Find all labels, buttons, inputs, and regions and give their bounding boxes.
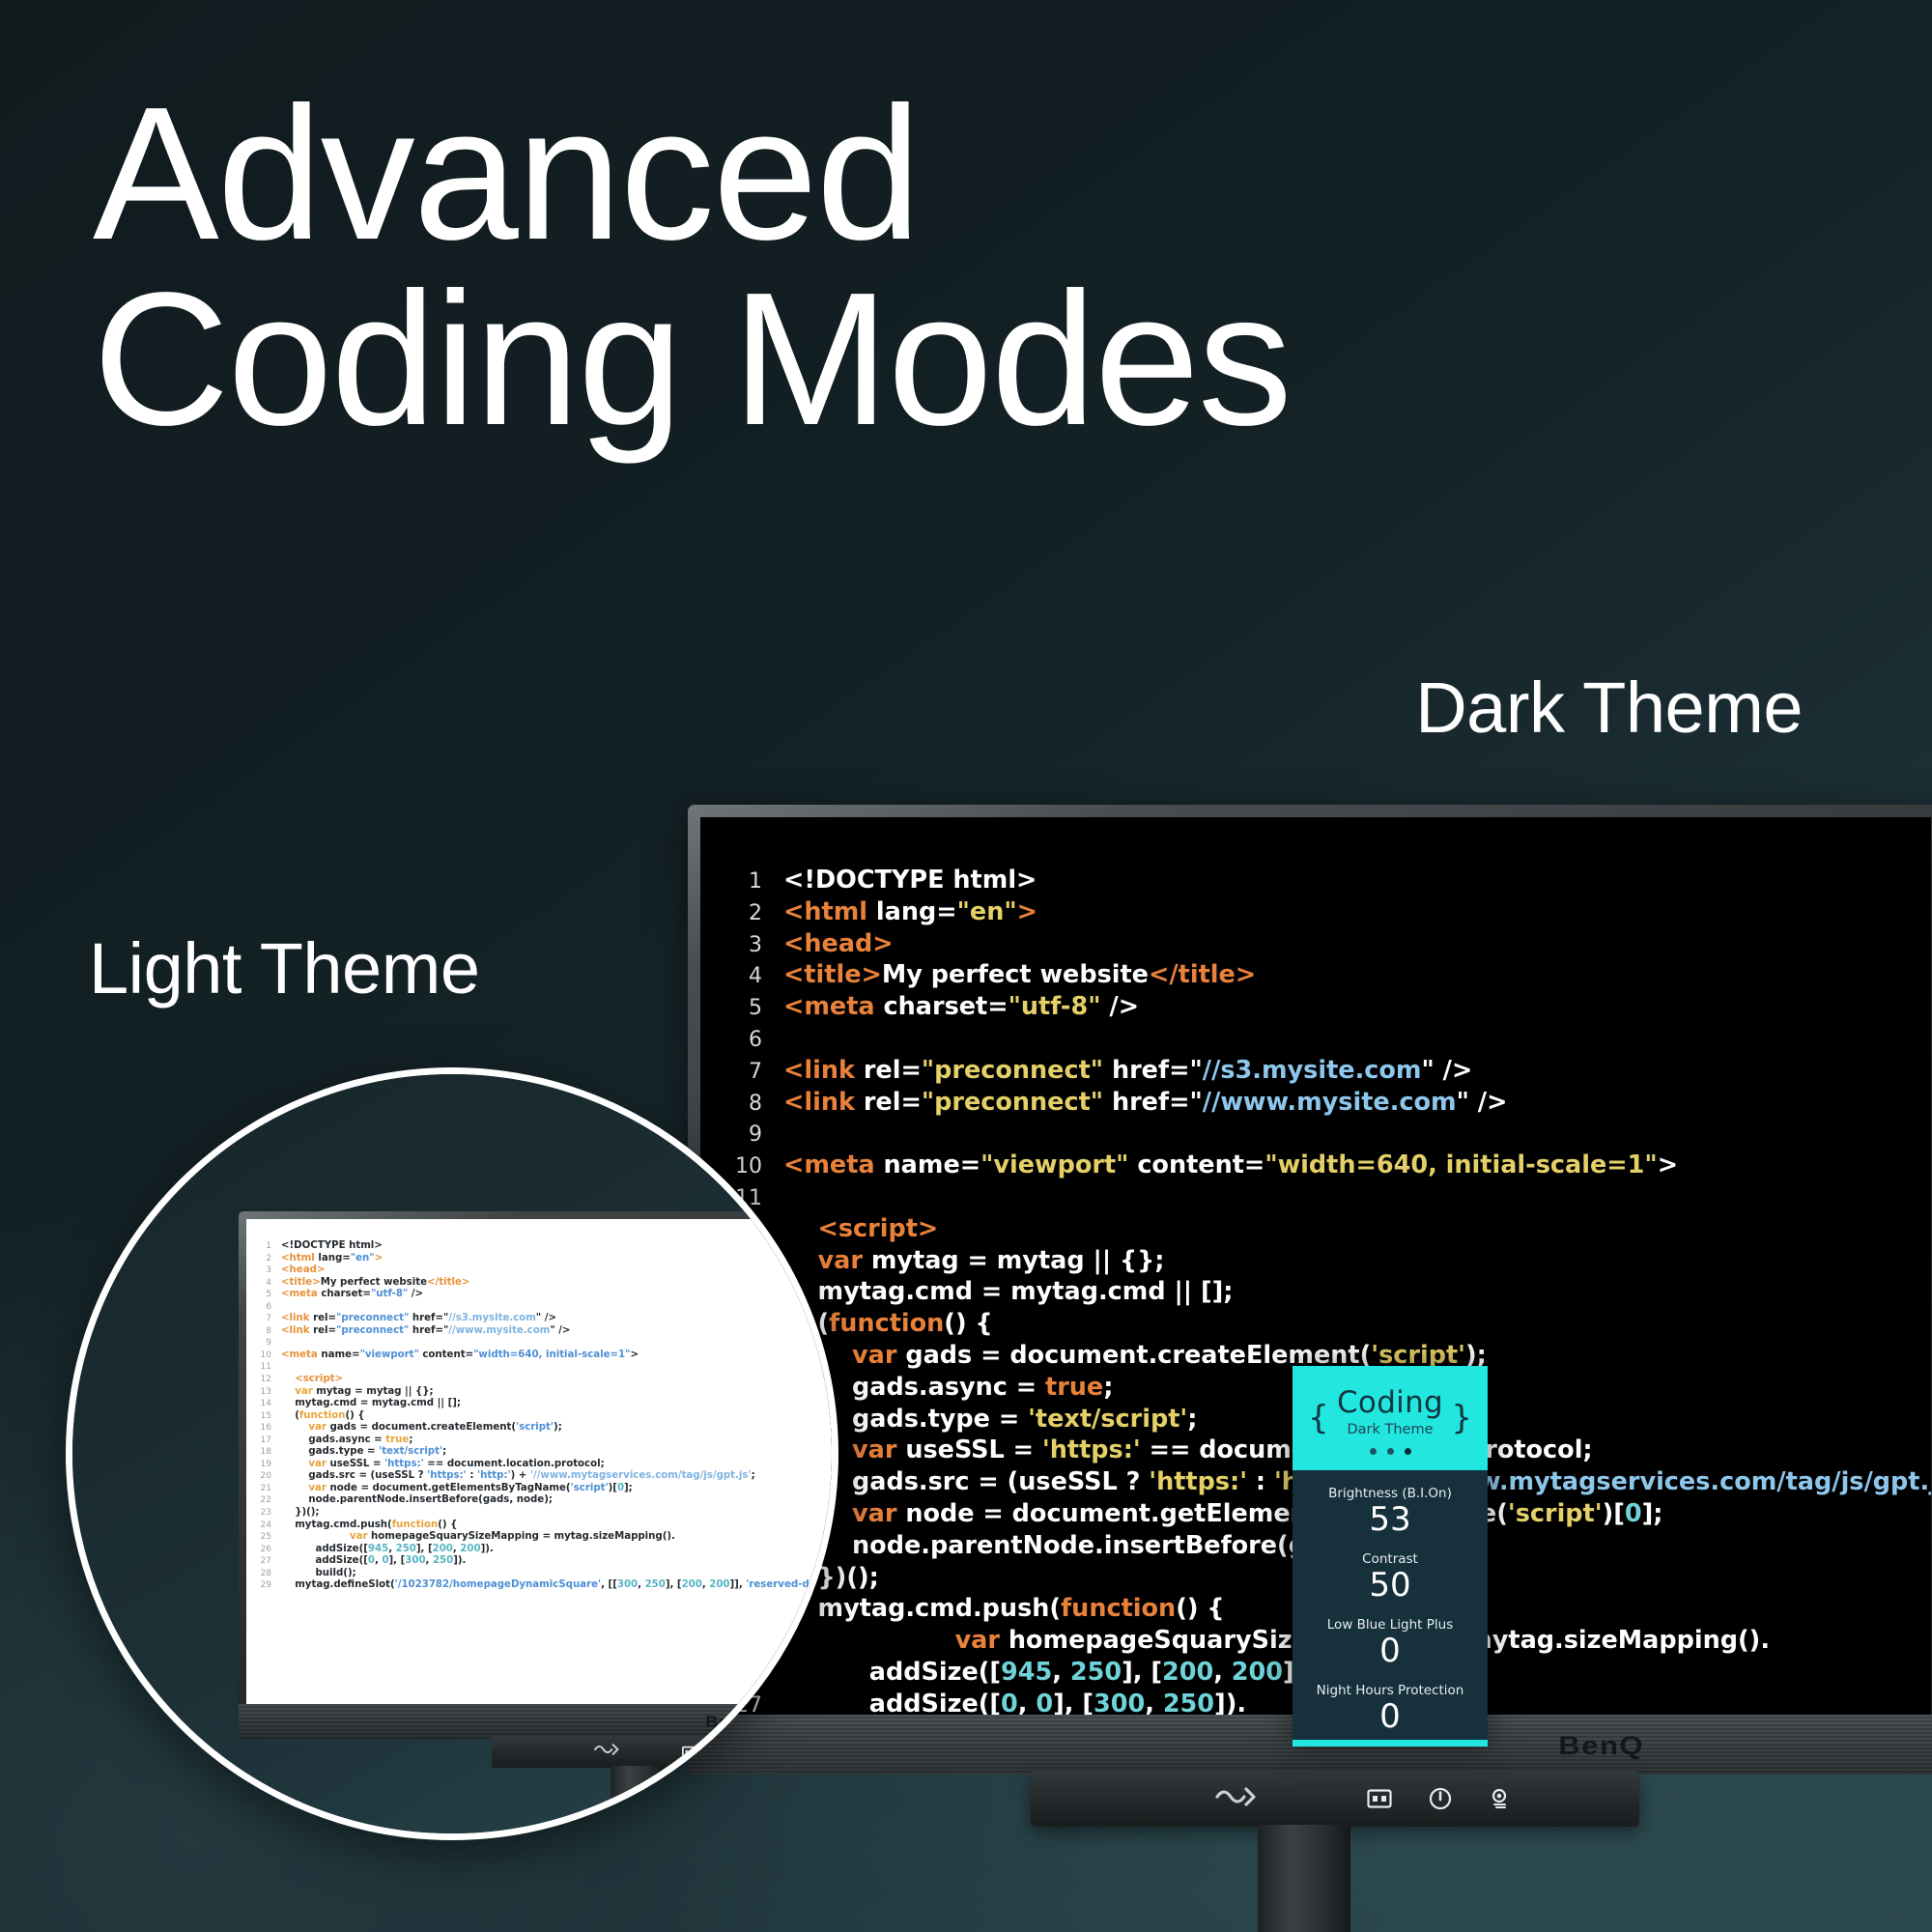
code-token: ]; bbox=[624, 1483, 633, 1493]
code-token: charset= bbox=[884, 992, 1009, 1021]
code-token: //s3.mysite.com bbox=[1203, 1056, 1422, 1085]
code-indent bbox=[281, 1531, 350, 1542]
line-number: 8 bbox=[256, 1325, 271, 1338]
osd-setting-row[interactable]: Brightness (B.I.On)53 bbox=[1293, 1486, 1488, 1539]
line-number: 6 bbox=[724, 1026, 762, 1056]
code-token: addSize([ bbox=[869, 1690, 1001, 1715]
code-token: content= bbox=[1128, 1151, 1264, 1179]
code-token: mytag.cmd.push( bbox=[295, 1520, 392, 1530]
code-token: homepageSquarySizeMapping = mytag.sizeMa… bbox=[371, 1531, 675, 1542]
code-token: <head> bbox=[783, 929, 894, 958]
code-line: 10<meta name="viewport" content="width=6… bbox=[724, 1151, 1931, 1182]
code-line: 5<meta charset="utf-8" /> bbox=[256, 1289, 838, 1301]
code-token: ], [ bbox=[1122, 1658, 1162, 1687]
code-token: 0 bbox=[1001, 1690, 1018, 1715]
code-line: 2<html lang="en"> bbox=[724, 897, 1931, 929]
code-token: gads.type = bbox=[308, 1446, 379, 1457]
code-token: <meta bbox=[783, 992, 884, 1021]
code-line: 26 addSize([945, 250], [200, 200]). bbox=[256, 1544, 838, 1556]
code-token: 'http:' bbox=[477, 1470, 511, 1481]
code-token: 'https:' bbox=[1042, 1435, 1141, 1464]
code-token: 'text/script' bbox=[1028, 1405, 1187, 1434]
code-token: <meta bbox=[281, 1289, 321, 1299]
line-number: 27 bbox=[256, 1555, 271, 1568]
code-token: href= bbox=[1103, 1056, 1189, 1085]
swoosh-icon bbox=[1214, 1784, 1261, 1814]
code-indent bbox=[281, 1483, 308, 1493]
code-indent bbox=[281, 1579, 295, 1590]
code-token: ], [ bbox=[666, 1579, 682, 1590]
code-line: 29 mytag.defineSlot('/1023782/homepageDy… bbox=[256, 1579, 838, 1592]
code-line: 9 bbox=[724, 1119, 1931, 1151]
code-token: "viewport" bbox=[980, 1151, 1128, 1179]
line-number: 1 bbox=[724, 867, 762, 897]
code-token: 0 bbox=[1036, 1690, 1053, 1715]
code-token: rel= bbox=[864, 1088, 922, 1117]
code-token: function bbox=[1061, 1594, 1176, 1623]
code-token: href= bbox=[1103, 1088, 1189, 1117]
code-token: () { bbox=[345, 1410, 364, 1421]
osd-setting-value: 0 bbox=[1293, 1633, 1488, 1670]
code-indent bbox=[281, 1555, 315, 1566]
code-line: 1<!DOCTYPE html> bbox=[256, 1240, 838, 1253]
code-token: name= bbox=[321, 1350, 359, 1360]
code-token: == document.location.protocol; bbox=[424, 1459, 605, 1469]
code-token: charset= bbox=[321, 1289, 371, 1299]
code-line: 6 bbox=[724, 1024, 1931, 1056]
line-number: 1 bbox=[256, 1240, 271, 1253]
code-token: <link bbox=[281, 1325, 313, 1336]
line-number: 2 bbox=[724, 899, 762, 929]
code-line: 20 gads.src = (useSSL ? 'https:' : 'http… bbox=[256, 1470, 838, 1483]
line-number: 3 bbox=[256, 1264, 271, 1277]
code-indent bbox=[281, 1507, 295, 1518]
code-token: <script> bbox=[295, 1374, 343, 1384]
line-number: 12 bbox=[256, 1374, 271, 1386]
screen-icon[interactable] bbox=[1367, 1788, 1392, 1809]
code-indent bbox=[281, 1410, 295, 1421]
benq-logo: BenQ bbox=[1558, 1730, 1644, 1761]
code-indent bbox=[281, 1422, 308, 1433]
code-token: var bbox=[852, 1341, 905, 1370]
code-line: 24 mytag.cmd.push(function() { bbox=[256, 1520, 838, 1532]
code-token: 200 bbox=[682, 1579, 702, 1590]
code-line: 2<html lang="en"> bbox=[256, 1253, 838, 1265]
code-token: > bbox=[1658, 1151, 1678, 1179]
code-token: mytag.defineSlot( bbox=[295, 1579, 394, 1590]
osd-accent-bar bbox=[1293, 1740, 1488, 1747]
code-token: mytag.cmd = mytag.cmd || []; bbox=[818, 1277, 1234, 1306]
code-token: addSize([ bbox=[315, 1544, 367, 1554]
code-indent bbox=[281, 1544, 315, 1554]
poster-canvas: Advanced Coding Modes Dark Theme Light T… bbox=[0, 0, 1932, 1932]
osd-setting-label: Low Blue Light Plus bbox=[1293, 1617, 1488, 1633]
code-token: " bbox=[1189, 1056, 1202, 1085]
code-token: 300 bbox=[405, 1555, 425, 1566]
code-token: var bbox=[295, 1386, 316, 1397]
code-line: 19 var useSSL = 'https:' == document.loc… bbox=[256, 1459, 838, 1471]
code-token: "preconnect" bbox=[336, 1325, 409, 1336]
code-token: 0 bbox=[382, 1555, 388, 1566]
code-token: ; bbox=[752, 1470, 755, 1481]
code-token: function bbox=[299, 1410, 346, 1421]
magnifier-background: 1<!DOCTYPE html>2<html lang="en">3<head>… bbox=[72, 1074, 832, 1833]
code-token: () { bbox=[438, 1520, 457, 1530]
code-line: 12 <script> bbox=[256, 1374, 838, 1386]
code-token: 'script' bbox=[571, 1483, 609, 1493]
code-token: '//www.mytagservices.com/tag/js/gpt.js' bbox=[530, 1470, 752, 1481]
code-token: ]). bbox=[1214, 1690, 1246, 1715]
light-theme-label: Light Theme bbox=[89, 927, 480, 1009]
code-token: mytag = mytag || {}; bbox=[871, 1246, 1165, 1275]
osd-header: { } Coding Dark Theme bbox=[1293, 1366, 1488, 1470]
code-token: My perfect website bbox=[321, 1277, 427, 1288]
code-token: <html bbox=[281, 1253, 318, 1264]
code-line: 14 mytag.cmd = mytag.cmd || []; bbox=[724, 1277, 1931, 1309]
code-token: , [[ bbox=[601, 1579, 617, 1590]
osd-setting-row[interactable]: Low Blue Light Plus0 bbox=[1293, 1617, 1488, 1670]
code-token: useSSL = bbox=[905, 1435, 1042, 1464]
power-icon[interactable] bbox=[1429, 1787, 1452, 1810]
code-line: 16 var gads = document.createElement('sc… bbox=[256, 1422, 838, 1435]
osd-setting-row[interactable]: Night Hours Protection0 bbox=[1293, 1683, 1488, 1736]
osd-panel[interactable]: { } Coding Dark Theme Brightness (B.I.On… bbox=[1293, 1366, 1488, 1747]
monitor-light-screen: 1<!DOCTYPE html>2<html lang="en">3<head>… bbox=[246, 1219, 838, 1704]
code-token: true bbox=[1045, 1373, 1103, 1402]
code-token: " /> bbox=[1457, 1088, 1508, 1117]
osd-setting-value: 53 bbox=[1293, 1501, 1488, 1539]
code-token: "utf-8" bbox=[371, 1289, 408, 1299]
line-number: 26 bbox=[256, 1544, 271, 1556]
code-token: "utf-8" bbox=[1009, 992, 1101, 1021]
code-token: 300 bbox=[1094, 1690, 1145, 1715]
code-token: )[ bbox=[1603, 1499, 1625, 1528]
code-line: 8<link rel="preconnect" href="//www.mysi… bbox=[724, 1088, 1931, 1120]
code-token: , bbox=[1052, 1658, 1070, 1687]
magnifier-light-theme: 1<!DOCTYPE html>2<html lang="en">3<head>… bbox=[66, 1067, 838, 1840]
code-token: "en" bbox=[351, 1253, 375, 1264]
line-number: 4 bbox=[724, 962, 762, 992]
monitor-stand bbox=[1258, 1825, 1350, 1932]
line-number: 5 bbox=[256, 1289, 271, 1301]
line-number: 24 bbox=[256, 1520, 271, 1532]
osd-setting-value: 50 bbox=[1293, 1567, 1488, 1605]
code-token: ; bbox=[1187, 1405, 1197, 1434]
code-token: "preconnect" bbox=[922, 1056, 1103, 1085]
code-line: 25 var homepageSquarySizeMapping = mytag… bbox=[256, 1531, 838, 1544]
code-token: true bbox=[385, 1435, 409, 1445]
code-token: " bbox=[1189, 1088, 1202, 1117]
monitor-control-bar[interactable] bbox=[1031, 1771, 1639, 1827]
code-line: 8<link rel="preconnect" href="//www.mysi… bbox=[256, 1325, 838, 1338]
code-token: )[ bbox=[609, 1483, 617, 1493]
code-line: 7<link rel="preconnect" href="//s3.mysit… bbox=[256, 1313, 838, 1325]
line-number: 2 bbox=[256, 1253, 271, 1265]
code-token: //s3.mysite.com bbox=[448, 1313, 536, 1323]
osd-setting-label: Night Hours Protection bbox=[1293, 1683, 1488, 1698]
osd-dot-1[interactable] bbox=[1370, 1448, 1377, 1455]
code-token: "width=640, initial-scale=1" bbox=[1264, 1151, 1657, 1179]
code-token: addSize([ bbox=[315, 1555, 367, 1566]
code-token: () { bbox=[944, 1309, 992, 1338]
line-number: 25 bbox=[256, 1531, 271, 1544]
code-indent bbox=[281, 1374, 295, 1384]
code-token: var bbox=[955, 1626, 1009, 1655]
code-token: 0 bbox=[368, 1555, 375, 1566]
code-indent bbox=[281, 1520, 295, 1530]
code-token: var bbox=[852, 1435, 905, 1464]
code-token: , bbox=[638, 1579, 644, 1590]
code-token: name= bbox=[884, 1151, 981, 1179]
code-token: var bbox=[308, 1483, 329, 1493]
code-token: var bbox=[308, 1459, 329, 1469]
osd-setting-row[interactable]: Contrast50 bbox=[1293, 1551, 1488, 1605]
code-line: 5<meta charset="utf-8" /> bbox=[724, 992, 1931, 1024]
code-token: <!DOCTYPE html> bbox=[281, 1240, 383, 1251]
code-token: ]; bbox=[1642, 1499, 1663, 1528]
line-number: 13 bbox=[256, 1386, 271, 1399]
code-token: 'https:' bbox=[1149, 1467, 1247, 1496]
line-number: 14 bbox=[256, 1398, 271, 1410]
code-line: 14 mytag.cmd = mytag.cmd || []; bbox=[256, 1398, 838, 1410]
code-token: , bbox=[1018, 1690, 1037, 1715]
code-line: 4<title>My perfect website</title> bbox=[724, 960, 1931, 992]
code-token: My perfect website bbox=[882, 960, 1149, 989]
osd-setting-label: Brightness (B.I.On) bbox=[1293, 1486, 1488, 1501]
code-token: , bbox=[1145, 1690, 1163, 1715]
code-token: 200 bbox=[460, 1544, 480, 1554]
code-token: <script> bbox=[818, 1214, 939, 1243]
line-number: 4 bbox=[256, 1277, 271, 1290]
code-token: 200 bbox=[433, 1544, 453, 1554]
line-number: 16 bbox=[256, 1422, 271, 1435]
osd-page-dots[interactable] bbox=[1293, 1448, 1488, 1455]
code-token: href= bbox=[409, 1313, 443, 1323]
code-token: ], [ bbox=[1053, 1690, 1094, 1715]
code-token: mytag = mytag || {}; bbox=[316, 1386, 433, 1397]
code-token: ], [ bbox=[389, 1555, 406, 1566]
code-indent bbox=[281, 1446, 308, 1457]
line-number: 18 bbox=[256, 1446, 271, 1459]
code-token: var bbox=[350, 1531, 371, 1542]
page-title: Advanced Coding Modes bbox=[93, 81, 1291, 452]
dark-theme-label: Dark Theme bbox=[1415, 667, 1803, 749]
code-line: 3<head> bbox=[724, 929, 1931, 961]
osd-setting-label: Contrast bbox=[1293, 1551, 1488, 1567]
code-token: node = document.getElementsByTagName( bbox=[329, 1483, 570, 1493]
code-token: /> bbox=[1101, 992, 1140, 1021]
eye-care-icon[interactable] bbox=[1489, 1787, 1512, 1810]
line-number: 29 bbox=[256, 1579, 271, 1592]
code-token: function bbox=[829, 1309, 944, 1338]
code-token: 250 bbox=[396, 1544, 416, 1554]
swoosh-icon-small bbox=[593, 1742, 622, 1762]
code-token: " /> bbox=[1421, 1056, 1472, 1085]
code-line: 4<title>My perfect website</title> bbox=[256, 1277, 838, 1290]
code-token: ]). bbox=[481, 1544, 494, 1554]
code-token: 200 bbox=[1232, 1658, 1283, 1687]
code-token: ; bbox=[409, 1435, 412, 1445]
line-number: 9 bbox=[256, 1337, 271, 1350]
code-line: 28 build(); bbox=[256, 1568, 838, 1580]
line-number: 3 bbox=[724, 931, 762, 961]
code-token: function bbox=[392, 1520, 439, 1530]
code-token: ; bbox=[1103, 1373, 1113, 1402]
code-indent bbox=[281, 1398, 295, 1408]
code-token: "preconnect" bbox=[922, 1088, 1103, 1117]
monitor-light-chin: BenQ bbox=[239, 1704, 838, 1739]
code-token: gads.async = bbox=[308, 1435, 385, 1445]
line-number: 15 bbox=[256, 1410, 271, 1423]
code-indent bbox=[281, 1435, 308, 1445]
code-token: mytag.cmd.push( bbox=[818, 1594, 1062, 1623]
benq-logo-small: BenQ bbox=[705, 1713, 755, 1730]
monitor-light-control-bar[interactable] bbox=[492, 1736, 830, 1768]
code-token: rel= bbox=[864, 1056, 922, 1085]
code-token: <head> bbox=[281, 1264, 325, 1275]
code-token: 250 bbox=[1163, 1690, 1214, 1715]
code-token: build(); bbox=[315, 1568, 355, 1578]
code-token: " /> bbox=[550, 1325, 570, 1336]
code-line: 13 var mytag = mytag || {}; bbox=[256, 1386, 838, 1399]
code-token: 300 bbox=[617, 1579, 638, 1590]
code-line: 15 (function() { bbox=[256, 1410, 838, 1423]
code-token: gads = document.createElement( bbox=[329, 1422, 516, 1433]
code-token: "viewport" bbox=[360, 1350, 419, 1360]
code-token: //www.mysite.com bbox=[448, 1325, 550, 1336]
code-token: rel= bbox=[313, 1325, 336, 1336]
code-token: 'reserved-div-1' bbox=[746, 1579, 833, 1590]
code-token: > bbox=[375, 1253, 384, 1264]
code-token: <link bbox=[281, 1313, 313, 1323]
eye-care-icon-small[interactable] bbox=[753, 1746, 766, 1759]
code-indent bbox=[281, 1459, 308, 1469]
code-token: 0 bbox=[1625, 1499, 1642, 1528]
code-token: 250 bbox=[1070, 1658, 1122, 1687]
code-line: 21 var node = document.getElementsByTagN… bbox=[256, 1483, 838, 1495]
screen-icon-small[interactable] bbox=[682, 1746, 696, 1758]
code-line: 12 <script> bbox=[724, 1214, 1931, 1246]
code-token: 'script' bbox=[516, 1422, 554, 1433]
code-token: gads.src = (useSSL ? bbox=[308, 1470, 427, 1481]
code-token: })(); bbox=[295, 1507, 319, 1518]
code-token: > bbox=[630, 1350, 639, 1360]
line-number: 17 bbox=[256, 1435, 271, 1447]
code-token: lang= bbox=[318, 1253, 350, 1264]
code-token: lang= bbox=[876, 897, 957, 926]
code-token: href= bbox=[409, 1325, 443, 1336]
code-token: ], [ bbox=[416, 1544, 433, 1554]
code-token: 945 bbox=[368, 1544, 388, 1554]
code-line: 3<head> bbox=[256, 1264, 838, 1277]
code-token: 945 bbox=[1001, 1658, 1052, 1687]
code-token: <html bbox=[783, 897, 876, 926]
code-token: rel= bbox=[313, 1313, 336, 1323]
code-token: > bbox=[1017, 897, 1037, 926]
line-number: 21 bbox=[256, 1483, 271, 1495]
monitor-light-bezel: 1<!DOCTYPE html>2<html lang="en">3<head>… bbox=[239, 1211, 838, 1704]
code-token: mytag.cmd = mytag.cmd || []; bbox=[295, 1398, 461, 1408]
code-line: 11 bbox=[724, 1182, 1931, 1214]
code-token: content= bbox=[419, 1350, 473, 1360]
brace-right-icon: } bbox=[1451, 1399, 1472, 1437]
code-token: <meta bbox=[281, 1350, 321, 1360]
code-token: addSize([ bbox=[869, 1658, 1001, 1687]
code-line: 22 node.parentNode.insertBefore(gads, no… bbox=[256, 1494, 838, 1507]
code-token: node.parentNode.insertBefore(gads, node)… bbox=[308, 1494, 553, 1505]
line-number: 11 bbox=[256, 1361, 271, 1374]
code-token: <title> bbox=[281, 1277, 321, 1288]
code-token: "width=640, initial-scale=1" bbox=[473, 1350, 630, 1360]
line-number: 7 bbox=[256, 1313, 271, 1325]
code-token: ]], bbox=[730, 1579, 747, 1590]
code-token: ); bbox=[554, 1422, 562, 1433]
monitor-light: 1<!DOCTYPE html>2<html lang="en">3<head>… bbox=[239, 1211, 838, 1741]
osd-dot-3[interactable] bbox=[1405, 1448, 1411, 1455]
code-token: 0 bbox=[617, 1483, 624, 1493]
osd-dot-2[interactable] bbox=[1387, 1448, 1394, 1455]
code-token: gads.async = bbox=[852, 1373, 1045, 1402]
code-line: 9 bbox=[256, 1337, 838, 1350]
code-token: 'script' bbox=[1508, 1499, 1603, 1528]
code-indent bbox=[281, 1494, 308, 1505]
code-token: , bbox=[426, 1555, 433, 1566]
code-editor-light: 1<!DOCTYPE html>2<html lang="en">3<head>… bbox=[246, 1219, 838, 1592]
code-token: 250 bbox=[645, 1579, 666, 1590]
code-token: <title> bbox=[783, 960, 882, 989]
line-number: 22 bbox=[256, 1494, 271, 1507]
code-line: 1<!DOCTYPE html> bbox=[724, 866, 1931, 897]
code-token: //www.mysite.com bbox=[1203, 1088, 1457, 1117]
code-line: 23 })(); bbox=[256, 1507, 838, 1520]
power-icon-small[interactable] bbox=[718, 1746, 731, 1759]
code-token: var bbox=[852, 1499, 905, 1528]
code-line: 6 bbox=[256, 1301, 838, 1314]
osd-setting-value: 0 bbox=[1293, 1698, 1488, 1736]
line-number: 10 bbox=[256, 1350, 271, 1362]
code-token: 'text/script' bbox=[379, 1446, 442, 1457]
code-token: ) + bbox=[511, 1470, 530, 1481]
code-indent bbox=[281, 1386, 295, 1397]
code-token: gads.src = (useSSL ? bbox=[852, 1467, 1149, 1496]
code-line: 11 bbox=[256, 1361, 838, 1374]
line-number: 19 bbox=[256, 1459, 271, 1471]
osd-settings-list: Brightness (B.I.On)53Contrast50Low Blue … bbox=[1293, 1470, 1488, 1736]
line-number: 20 bbox=[256, 1470, 271, 1483]
code-token: </title> bbox=[1149, 960, 1256, 989]
code-token: 'https:' bbox=[384, 1459, 424, 1469]
code-line: 15 (function() { bbox=[724, 1309, 1931, 1341]
code-token: 250 bbox=[433, 1555, 453, 1566]
line-number: 23 bbox=[256, 1507, 271, 1520]
code-token: <!DOCTYPE html> bbox=[783, 866, 1037, 895]
line-number: 6 bbox=[256, 1301, 271, 1314]
code-token: ; bbox=[442, 1446, 446, 1457]
code-token: : bbox=[1247, 1467, 1274, 1496]
code-token: 200 bbox=[1162, 1658, 1213, 1687]
code-line: 10<meta name="viewport" content="width=6… bbox=[256, 1350, 838, 1362]
code-token: " /> bbox=[536, 1313, 556, 1323]
code-line: 27 addSize([0, 0], [300, 250]). bbox=[256, 1555, 838, 1568]
code-line: 18 gads.type = 'text/script'; bbox=[256, 1446, 838, 1459]
code-token: 'https:' bbox=[427, 1470, 467, 1481]
line-number: 5 bbox=[724, 994, 762, 1024]
code-token: /> bbox=[408, 1289, 423, 1299]
code-token: "preconnect" bbox=[336, 1313, 409, 1323]
code-token: gads.type = bbox=[852, 1405, 1028, 1434]
brace-left-icon: { bbox=[1308, 1399, 1329, 1437]
code-token: useSSL = bbox=[329, 1459, 384, 1469]
